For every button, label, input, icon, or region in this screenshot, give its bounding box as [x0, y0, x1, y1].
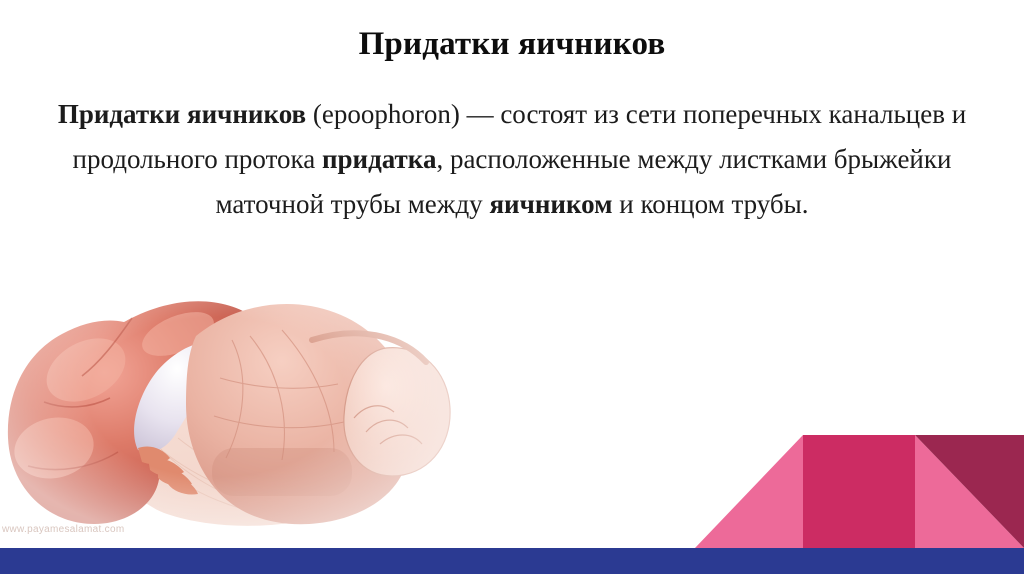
- footer-bar: [0, 548, 1024, 574]
- watermark-text: www.payamesalamat.com: [2, 524, 124, 535]
- body-line4-plain-b: и концом трубы.: [613, 189, 809, 219]
- anatomy-illustration: [0, 252, 452, 542]
- slide-canvas: Придатки яичников Придатки яичников (epo…: [0, 0, 1024, 574]
- illustration-vignette: [0, 252, 452, 542]
- body-line4-plain-a: между: [408, 189, 490, 219]
- body-line2-tail: ,: [436, 144, 443, 174]
- body-paragraph: Придатки яичников (epoophoron) — состоят…: [52, 92, 972, 227]
- body-term-epoophoron: Придатки яичников: [58, 99, 306, 129]
- deco-rectangle-magenta: [803, 435, 915, 548]
- body-term-yaichnikom: яичником: [489, 189, 612, 219]
- deco-triangle-pink-left: [695, 435, 803, 548]
- decorative-shapes: [690, 430, 1024, 550]
- body-term-pridatka: придатка: [322, 144, 437, 174]
- page-title: Придатки яичников: [0, 24, 1024, 64]
- body-line1-rest: (epoophoron) — состоят из сети: [306, 99, 676, 129]
